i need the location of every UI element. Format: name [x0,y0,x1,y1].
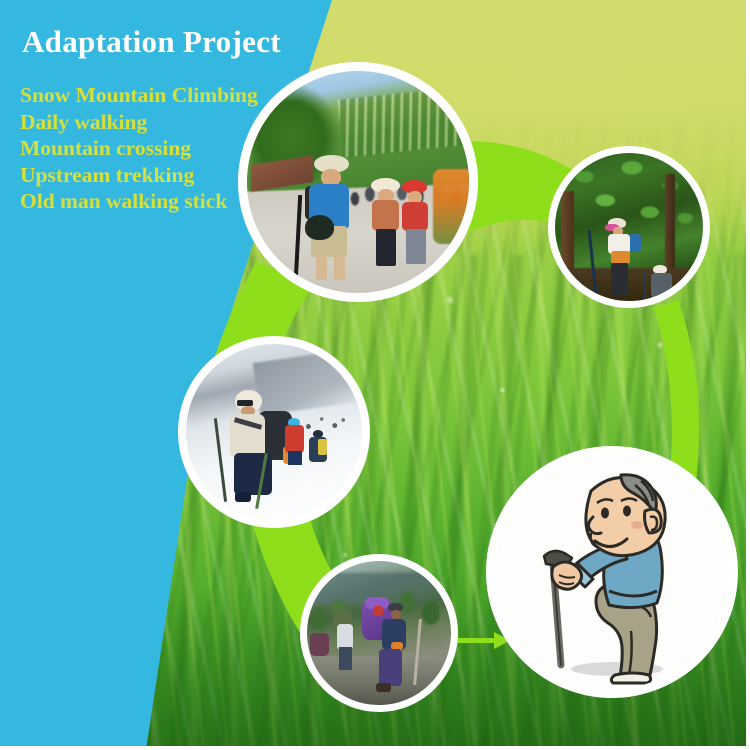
shoe [611,673,650,683]
terraced-hills [338,87,469,158]
feature-item-snow-mountain-climbing: Snow Mountain Climbing [20,82,258,109]
hiker-orange-vest [433,169,469,244]
child-white-hat-legs [376,229,396,267]
page-title: Adaptation Project [22,24,281,60]
child-red-cap-legs [406,229,426,265]
photo-circle-forest-trekking [548,146,710,308]
tree-trunk-right [665,174,675,278]
lead-hiker-pole [294,195,302,279]
lead-trekker-face [391,610,401,619]
photo-circle-upstream-trekking [300,554,458,712]
feature-item-old-man-walking-stick: Old man walking stick [20,188,258,215]
mountain-ridge [253,347,362,415]
lead-trekker-legs [379,649,402,686]
second-trekker-body [651,273,672,298]
photo-circle-group-hiking [238,62,478,302]
photo-circle-old-man-walking-stick [486,446,738,698]
third-trekker [310,633,329,656]
second-trekker-legs [339,647,352,670]
illustration-old-man-walking-stick [495,455,729,689]
distant-climber-red-jacket [285,425,304,453]
feature-item-mountain-crossing: Mountain crossing [20,135,258,162]
second-trekker-torso [337,624,353,650]
poster-canvas: Adaptation Project Snow Mountain Climbin… [0,0,750,750]
second-trekker-pole [644,271,646,301]
red-gear-strap [373,606,383,616]
forest-floor [555,268,703,301]
child-red-cap-body [402,202,428,231]
feature-item-daily-walking: Daily walking [20,109,258,136]
eye-right [623,506,631,517]
lead-trekker-boot [376,683,390,692]
photo-group-hiking [247,71,469,293]
lead-hiker-shoulder-bag [305,215,334,239]
lead-hiker-leg-left [316,255,327,279]
old-man-svg [495,455,729,689]
lead-hiker-leg-right [334,255,345,279]
distant-climber2-pack [318,439,327,455]
trekker-waist-pack [611,251,630,264]
climber-pole-left [214,418,227,502]
feature-item-upstream-trekking: Upstream trekking [20,162,258,189]
trekker-legs [611,263,627,296]
bottom-edge-margin [0,746,750,750]
eye-left [601,508,609,519]
photo-circle-snow-mountain [178,336,370,528]
distant-climber-legs [288,451,302,465]
right-edge-margin [746,0,750,750]
child-white-hat-body [372,200,399,231]
climber-boot [235,492,251,503]
photo-upstream-trekking [307,561,451,705]
cheek [631,521,643,529]
photo-snow-mountain [186,344,362,520]
feature-list: Snow Mountain Climbing Daily walking Mou… [20,82,258,215]
photo-forest-trekking [555,153,703,301]
